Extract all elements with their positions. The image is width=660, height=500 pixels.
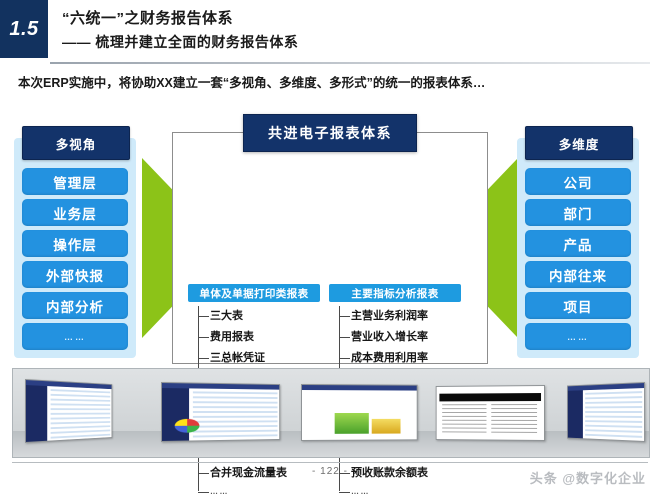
list-item[interactable]: 管理层 xyxy=(22,168,128,195)
right-column-multidimension: 多维度 公司 部门 产品 内部往来 项目 …… xyxy=(517,138,639,358)
list-item[interactable]: 公司 xyxy=(525,168,631,195)
dashboard-screen-image xyxy=(25,379,112,443)
list-item[interactable]: 部门 xyxy=(525,199,631,226)
list-item[interactable]: 业务层 xyxy=(22,199,128,226)
list-item-ellipsis: …… xyxy=(351,484,461,500)
list-item[interactable]: 内部往来 xyxy=(525,261,631,288)
report-system-diagram: 多视角 管理层 业务层 操作层 外部快报 内部分析 …… 共进电子报表体系 单体… xyxy=(0,118,660,364)
list-item[interactable]: 内部分析 xyxy=(22,292,128,319)
dashboard-screen-image xyxy=(567,382,645,442)
left-column-items: 管理层 业务层 操作层 外部快报 内部分析 …… xyxy=(22,168,128,354)
list-item[interactable]: 项目 xyxy=(525,292,631,319)
left-column-header: 多视角 xyxy=(22,126,130,160)
group-header: 单体及单据打印类报表 xyxy=(188,284,320,302)
left-column-multiview: 多视角 管理层 业务层 操作层 外部快报 内部分析 …… xyxy=(14,138,136,358)
list-item-ellipsis: …… xyxy=(525,323,631,350)
dashboard-screen-image xyxy=(301,384,418,441)
slide-header: 1.5 “六统一”之财务报告体系 —— 梳理并建立全面的财务报告体系 xyxy=(0,0,660,58)
watermark: 头条 @数字化企业 xyxy=(530,468,646,487)
slide: 1.5 “六统一”之财务报告体系 —— 梳理并建立全面的财务报告体系 本次ERP… xyxy=(0,0,660,495)
dashboard-photo-strip xyxy=(12,368,650,458)
list-item[interactable]: 三总帐凭证 xyxy=(210,348,320,369)
list-item[interactable]: 主营业务利润率 xyxy=(351,306,461,327)
section-number-badge: 1.5 xyxy=(0,0,48,58)
list-item[interactable]: 费用报表 xyxy=(210,327,320,348)
center-panel-header: 共进电子报表体系 xyxy=(243,114,417,152)
list-item[interactable]: 操作层 xyxy=(22,230,128,257)
intro-text: 本次ERP实施中，将协助XX建立一套“多视角、多维度、多形式”的统一的报表体系… xyxy=(18,74,648,92)
right-column-items: 公司 部门 产品 内部往来 项目 …… xyxy=(525,168,631,354)
page-subtitle: —— 梳理并建立全面的财务报告体系 xyxy=(62,32,298,53)
list-item-ellipsis: …… xyxy=(210,484,320,500)
list-item[interactable]: 成本费用利用率 xyxy=(351,348,461,369)
group-header: 主要指标分析报表 xyxy=(329,284,461,302)
page-title: “六统一”之财务报告体系 xyxy=(62,8,298,29)
right-column-header: 多维度 xyxy=(525,126,633,160)
list-item[interactable]: 外部快报 xyxy=(22,261,128,288)
footer-divider xyxy=(12,462,648,463)
list-item[interactable]: 营业收入增长率 xyxy=(351,327,461,348)
dashboard-screen-image xyxy=(436,385,545,441)
list-item[interactable]: 三大表 xyxy=(210,306,320,327)
list-item[interactable]: 产品 xyxy=(525,230,631,257)
header-divider xyxy=(50,62,650,64)
title-block: “六统一”之财务报告体系 —— 梳理并建立全面的财务报告体系 xyxy=(62,8,298,53)
dashboard-screen-image xyxy=(161,382,280,442)
list-item-ellipsis: …… xyxy=(22,323,128,350)
